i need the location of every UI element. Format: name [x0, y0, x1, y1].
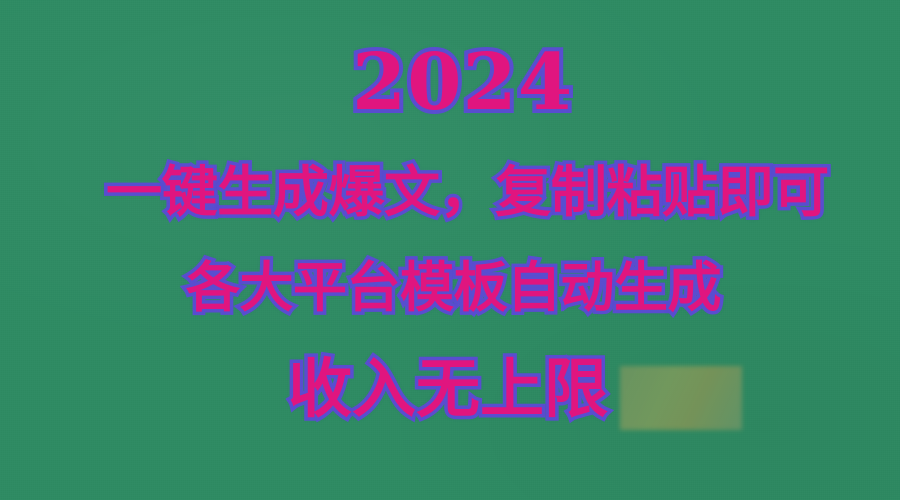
headline-line-2: 一键生成爆文，复制粘贴即可 [106, 165, 829, 220]
headline-year: 2024 [352, 44, 573, 122]
headline-line-4: 收入无上限 [288, 358, 608, 422]
headline-line-3: 各大平台模板自动生成 [186, 261, 721, 315]
promo-poster: 2024 一键生成爆文，复制粘贴即可 各大平台模板自动生成 收入无上限 [0, 0, 900, 500]
redaction-blur-patch [620, 366, 742, 430]
